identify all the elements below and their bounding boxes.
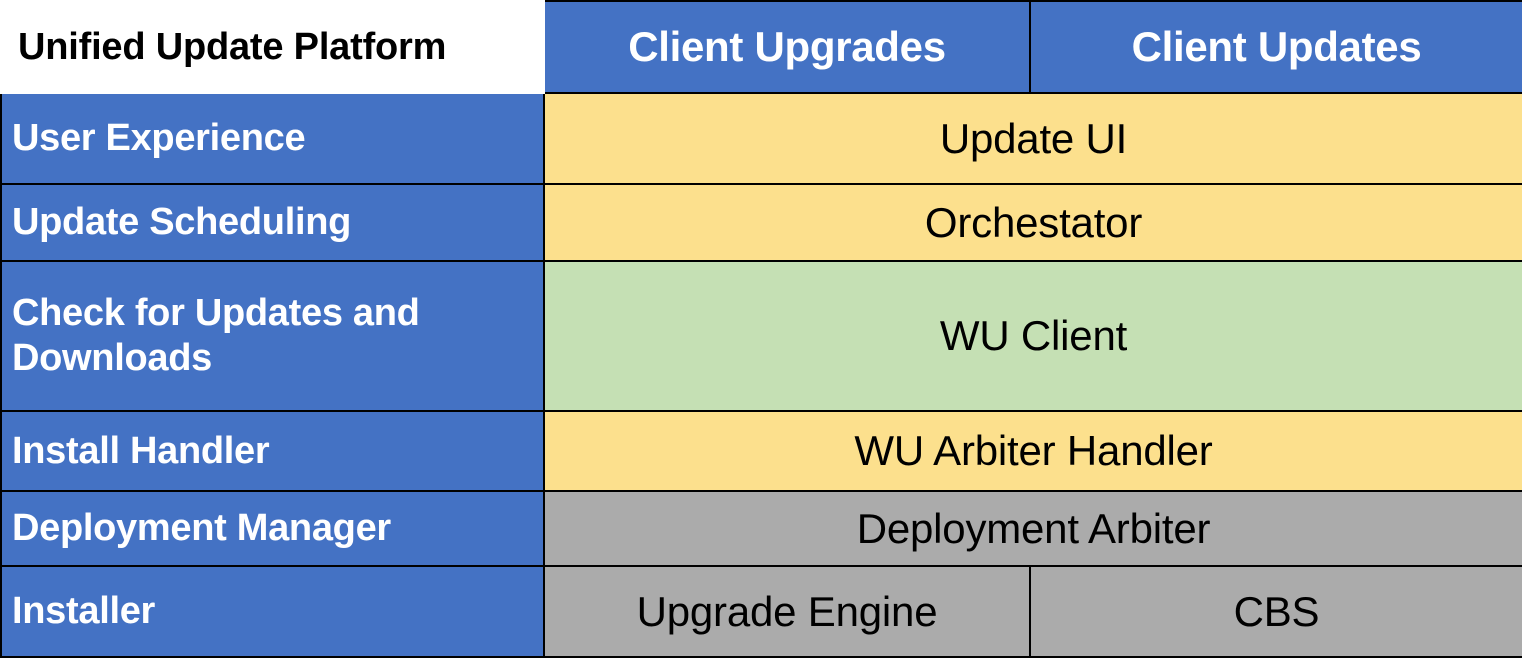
cell-wu-client: WU Client: [544, 261, 1522, 411]
cell-update-ui: Update UI: [544, 93, 1522, 184]
row-label-installer: Installer: [1, 566, 544, 657]
cell-wu-arbiter-handler: WU Arbiter Handler: [544, 411, 1522, 491]
cell-orchestator: Orchestator: [544, 184, 1522, 261]
column-header-client-updates: Client Updates: [1030, 1, 1522, 93]
table-header-row: Unified Update Platform Client Upgrades …: [1, 1, 1522, 93]
cell-deployment-arbiter: Deployment Arbiter: [544, 491, 1522, 566]
table-body: Unified Update Platform Client Upgrades …: [1, 1, 1522, 657]
row-label-deployment-manager: Deployment Manager: [1, 491, 544, 566]
row-label-install-handler: Install Handler: [1, 411, 544, 491]
table-row-user-experience: User Experience Update UI: [1, 93, 1522, 184]
row-label-update-scheduling: Update Scheduling: [1, 184, 544, 261]
table-row-deployment-manager: Deployment Manager Deployment Arbiter: [1, 491, 1522, 566]
cell-cbs: CBS: [1030, 566, 1522, 657]
unified-update-platform-table: Unified Update Platform Client Upgrades …: [0, 0, 1522, 658]
row-label-check-for-updates-and-downloads: Check for Updates and Downloads: [1, 261, 544, 411]
column-header-client-upgrades: Client Upgrades: [544, 1, 1030, 93]
table-corner-title: Unified Update Platform: [1, 1, 544, 93]
table-row-check-for-updates-and-downloads: Check for Updates and Downloads WU Clien…: [1, 261, 1522, 411]
table-row-install-handler: Install Handler WU Arbiter Handler: [1, 411, 1522, 491]
row-label-user-experience: User Experience: [1, 93, 544, 184]
table-row-update-scheduling: Update Scheduling Orchestator: [1, 184, 1522, 261]
cell-upgrade-engine: Upgrade Engine: [544, 566, 1030, 657]
table-row-installer: Installer Upgrade Engine CBS: [1, 566, 1522, 657]
